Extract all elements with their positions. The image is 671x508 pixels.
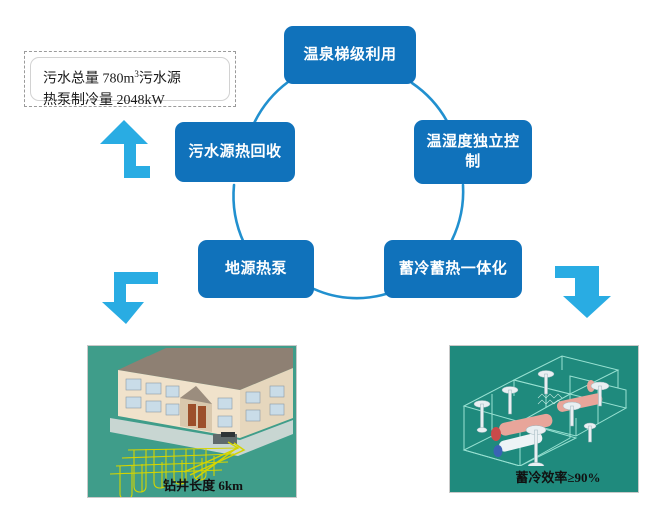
node-temp-humidity-control[interactable]: 温湿度独立控制 (414, 120, 532, 184)
callout-line1-pre: 污水总量 780m (43, 72, 134, 87)
photo-caption-drill-length: 钻井长度 6km (88, 475, 296, 494)
node-label: 温湿度独立控制 (422, 132, 524, 173)
callout-inner-frame: 污水总量 780m3污水源 热泵制冷量 2048kW (30, 57, 230, 101)
node-sewage-heat-recovery[interactable]: 污水源热回收 (175, 122, 295, 182)
storage-tank-photo: 蓄冷效率≥90% (449, 345, 639, 493)
node-label: 蓄冷蓄热一体化 (399, 259, 508, 279)
node-ground-source-pump[interactable]: 地源热泵 (198, 240, 314, 298)
diagram-canvas: 温泉梯级利用 温湿度独立控制 蓄冷蓄热一体化 地源热泵 污水源热回收 污水总量 … (0, 0, 671, 508)
photo-caption-storage-efficiency: 蓄冷效率≥90% (450, 467, 638, 486)
elbow-arrow-down-left-icon (100, 272, 158, 324)
node-label: 污水源热回收 (188, 142, 281, 162)
node-label: 温泉梯级利用 (303, 45, 396, 65)
callout-line1-post: 污水源 (139, 72, 181, 87)
elbow-arrow-up-icon (98, 120, 150, 178)
callout-textbox[interactable]: 污水总量 780m3污水源 热泵制冷量 2048kW (24, 51, 236, 107)
elbow-arrow-down-right-icon (555, 266, 613, 318)
node-cool-heat-storage[interactable]: 蓄冷蓄热一体化 (384, 240, 522, 298)
callout-line-2: 热泵制冷量 2048kW (43, 90, 219, 111)
node-spring-cascade[interactable]: 温泉梯级利用 (284, 26, 416, 84)
ground-loop-photo: 钻井长度 6km (87, 345, 297, 498)
callout-line-1: 污水总量 780m3污水源 (43, 64, 219, 90)
node-label: 地源热泵 (225, 259, 287, 279)
